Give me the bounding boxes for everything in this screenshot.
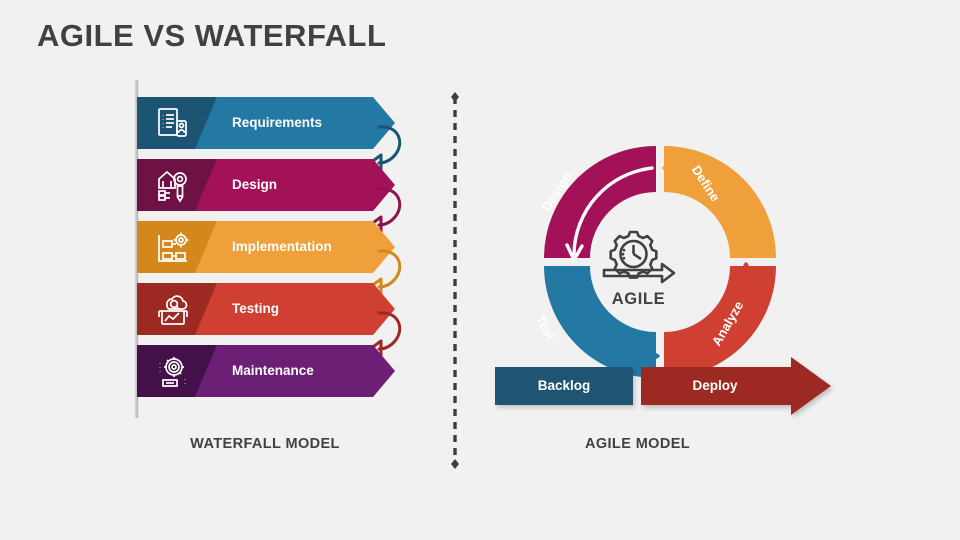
deploy-label: Deploy [641, 367, 789, 405]
stage-label-implementation: Implementation [232, 221, 332, 273]
waterfall-stage-implementation[interactable]: Implementation [137, 221, 395, 273]
backlog-label: Backlog [495, 367, 633, 405]
ring-segment-define[interactable] [664, 146, 776, 258]
stage-label-design: Design [232, 159, 277, 211]
document-checklist-icon [155, 105, 191, 141]
agile-model-caption: AGILE MODEL [515, 436, 760, 452]
cloud-monitor-test-icon [155, 291, 191, 327]
stage-label-testing: Testing [232, 283, 279, 335]
stage-label-maintenance: Maintenance [232, 345, 314, 397]
blueprint-pencil-icon [155, 167, 191, 203]
vertical-dashed-divider [438, 88, 472, 473]
gear-flowchart-icon [155, 229, 191, 265]
stage-label-requirements: Requirements [232, 97, 322, 149]
page-title: AGILE VS WATERFALL [37, 18, 386, 54]
waterfall-model-caption: WATERFALL MODEL [120, 436, 410, 452]
gear-fingerprint-support-icon [155, 353, 191, 389]
waterfall-stage-requirements[interactable]: Requirements [137, 97, 395, 149]
waterfall-stage-design[interactable]: Design [137, 159, 395, 211]
waterfall-stage-maintenance[interactable]: Maintenance [137, 345, 395, 397]
agile-center-label: AGILE [586, 290, 691, 309]
waterfall-stage-testing[interactable]: Testing [137, 283, 395, 335]
slide-canvas: AGILE VS WATERFALL [0, 0, 960, 540]
gear-clock-arrow-icon [600, 228, 678, 286]
waterfall-model-diagram: Requirements [120, 75, 430, 435]
